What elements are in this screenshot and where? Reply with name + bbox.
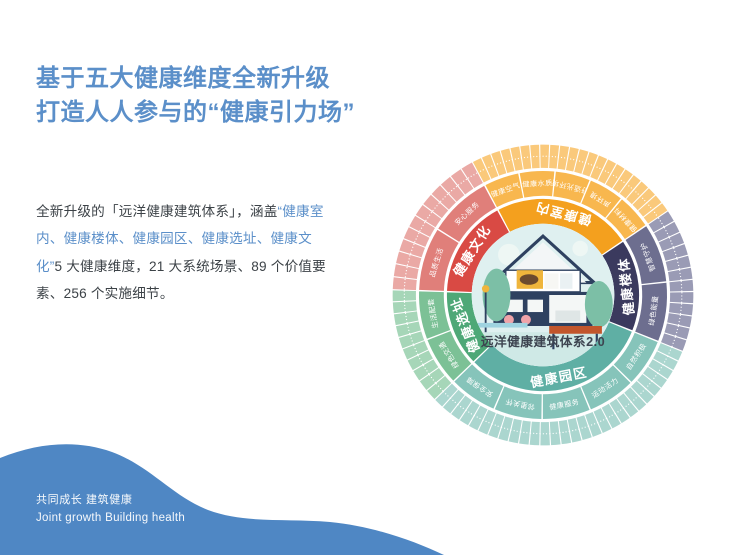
body-paragraph: 全新升级的「远洋健康建筑体系」，涵盖“健康室内、健康楼体、健康园区、健康选址、健… [36,198,336,308]
health-system-wheel: 健康空气健康水质舒适光环境声环境健康材料• • • •• • • •• • • … [388,140,698,450]
body-segment-1: 全新升级的「远洋健康建筑体系」，涵盖 [36,204,278,219]
wheel-outer-label: • • • • [402,301,408,313]
footer-slogan-en: Joint growth Building health [36,509,185,527]
wheel-outer-label: • • • • [402,278,408,290]
body-segment-2: 5 大健康维度，21 大系统场景、89 个价值要素、256 个实施细节。 [36,259,326,302]
footer-slogan: 共同成长 建筑健康 Joint growth Building health [36,492,185,527]
wheel-svg: 健康空气健康水质舒适光环境声环境健康材料• • • •• • • •• • • … [388,140,698,450]
page-title: 基于五大健康维度全新升级 打造人人参与的“健康引力场” [36,62,466,130]
slide-canvas: 基于五大健康维度全新升级 打造人人参与的“健康引力场” 全新升级的「远洋健康建筑… [0,0,740,555]
wheel-outer-label: • • • • [679,280,685,292]
wheel-center-caption: 远洋健康建筑体系2.0 [481,334,605,349]
wheel-mid-label: 健康水质 [522,178,553,188]
wheel-outer-label: • • • • [402,290,407,301]
wheel-outer-label: • • • • [549,430,561,436]
headline-line-2: 打造人人参与的“健康引力场” [36,96,466,130]
headline-line-1: 基于五大健康维度全新升级 [36,62,466,96]
footer-slogan-cn: 共同成长 建筑健康 [36,492,185,509]
wheel-outer-label: • • • • [679,292,684,303]
wheel-outer-label: • • • • [539,431,550,436]
